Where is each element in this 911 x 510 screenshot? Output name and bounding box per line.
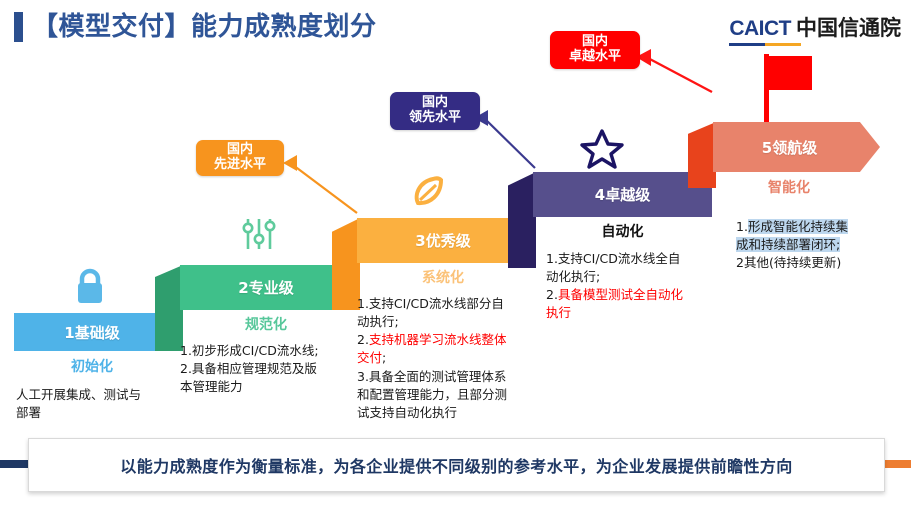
callout-domestic-leading[interactable]: 国内 领先水平	[390, 92, 480, 130]
level-2-subtitle: 规范化	[180, 314, 352, 334]
level-1-title: 1基础级	[64, 322, 119, 343]
description-line: 3.具备全面的测试管理体系	[357, 368, 545, 386]
logo-underline	[729, 43, 801, 46]
callout-2-line2: 领先水平	[409, 111, 461, 126]
callout-1-line2: 先进水平	[214, 158, 266, 173]
description-line: 动执行;	[357, 313, 545, 331]
level-5-title: 5领航级	[762, 137, 817, 158]
level-2-title: 2专业级	[238, 277, 293, 298]
description-line: 1.支持CI/CD流水线部分自	[357, 295, 545, 313]
callout-1-line1: 国内	[227, 143, 253, 158]
description-line: 执行	[546, 304, 724, 322]
level-3-title: 3优秀级	[415, 230, 470, 251]
title-accent-bar	[14, 12, 23, 42]
level-1-subtitle: 初始化	[14, 356, 170, 376]
level-5-bar[interactable]: 5领航级	[713, 122, 880, 172]
level-4-title: 4卓越级	[595, 184, 650, 205]
level-5-description: 1.形成智能化持续集成和持续部署闭环;2其他(待持续更新)	[736, 218, 906, 272]
level-5-side	[688, 122, 716, 188]
description-line: 2.支持机器学习流水线整体	[357, 331, 545, 349]
level-3-subtitle: 系统化	[357, 267, 529, 287]
level-2-side	[155, 265, 183, 351]
description-line: 1.初步形成CI/CD流水线;	[180, 342, 366, 360]
callout-domestic-advanced[interactable]: 国内 先进水平	[196, 140, 284, 176]
banner-box: 以能力成熟度作为衡量标准，为各企业提供不同级别的参考水平，为企业发展提供前瞻性方…	[28, 438, 885, 492]
level-2-bar[interactable]: 2专业级	[180, 265, 352, 310]
description-line: 1.形成智能化持续集	[736, 218, 906, 236]
leaf-icon	[408, 173, 448, 215]
caict-logo: CAICT 中国信通院	[729, 12, 901, 46]
level-1-description: 人工开展集成、测试与部署	[16, 386, 176, 422]
description-line: 本管理能力	[180, 378, 366, 396]
description-line: 成和持续部署闭环;	[736, 236, 906, 254]
star-icon	[580, 128, 624, 174]
sliders-icon	[240, 215, 278, 259]
level-3-side	[332, 218, 360, 310]
description-line: 动化执行;	[546, 268, 724, 286]
description-line: 2其他(待持续更新)	[736, 254, 906, 272]
bottom-banner: 以能力成熟度作为衡量标准，为各企业提供不同级别的参考水平，为企业发展提供前瞻性方…	[0, 438, 911, 492]
lock-icon	[72, 266, 108, 312]
logo-mark-text: CAICT	[729, 17, 791, 41]
description-line: 2.具备模型测试全自动化	[546, 286, 724, 304]
callout-domestic-excellent[interactable]: 国内 卓越水平	[550, 31, 640, 69]
level-4-description: 1.支持CI/CD流水线全自动化执行;2.具备模型测试全自动化执行	[546, 250, 724, 323]
description-line: 交付;	[357, 349, 545, 367]
level-2-description: 1.初步形成CI/CD流水线;2.具备相应管理规范及版本管理能力	[180, 342, 366, 396]
description-line: 试支持自动化执行	[357, 404, 545, 422]
page-title: 【模型交付】能力成熟度划分	[32, 6, 377, 43]
description-line: 和配置管理能力，且部分测	[357, 386, 545, 404]
callout-3-line1: 国内	[582, 35, 608, 50]
logo-chinese-text: 中国信通院	[796, 12, 901, 42]
level-4-side	[508, 172, 536, 268]
level-3-description: 1.支持CI/CD流水线部分自动执行;2.支持机器学习流水线整体交付;3.具备全…	[357, 295, 545, 422]
level-4-bar[interactable]: 4卓越级	[533, 172, 712, 217]
callout-2-line1: 国内	[422, 96, 448, 111]
slide-header: 【模型交付】能力成熟度划分 CAICT 中国信通院	[0, 0, 911, 52]
description-line: 部署	[16, 404, 176, 422]
level-4-subtitle: 自动化	[533, 221, 712, 241]
description-line: 1.支持CI/CD流水线全自	[546, 250, 724, 268]
slide-canvas: 【模型交付】能力成熟度划分 CAICT 中国信通院	[0, 0, 911, 510]
banner-text: 以能力成熟度作为衡量标准，为各企业提供不同级别的参考水平，为企业发展提供前瞻性方…	[120, 453, 792, 477]
description-line: 人工开展集成、测试与	[16, 386, 176, 404]
level-5-subtitle: 智能化	[713, 177, 865, 197]
flag-icon	[760, 50, 818, 130]
description-line: 2.具备相应管理规范及版	[180, 360, 366, 378]
level-3-bar[interactable]: 3优秀级	[357, 218, 529, 263]
callout-3-line2: 卓越水平	[569, 50, 621, 65]
level-1-bar[interactable]: 1基础级	[14, 313, 170, 351]
